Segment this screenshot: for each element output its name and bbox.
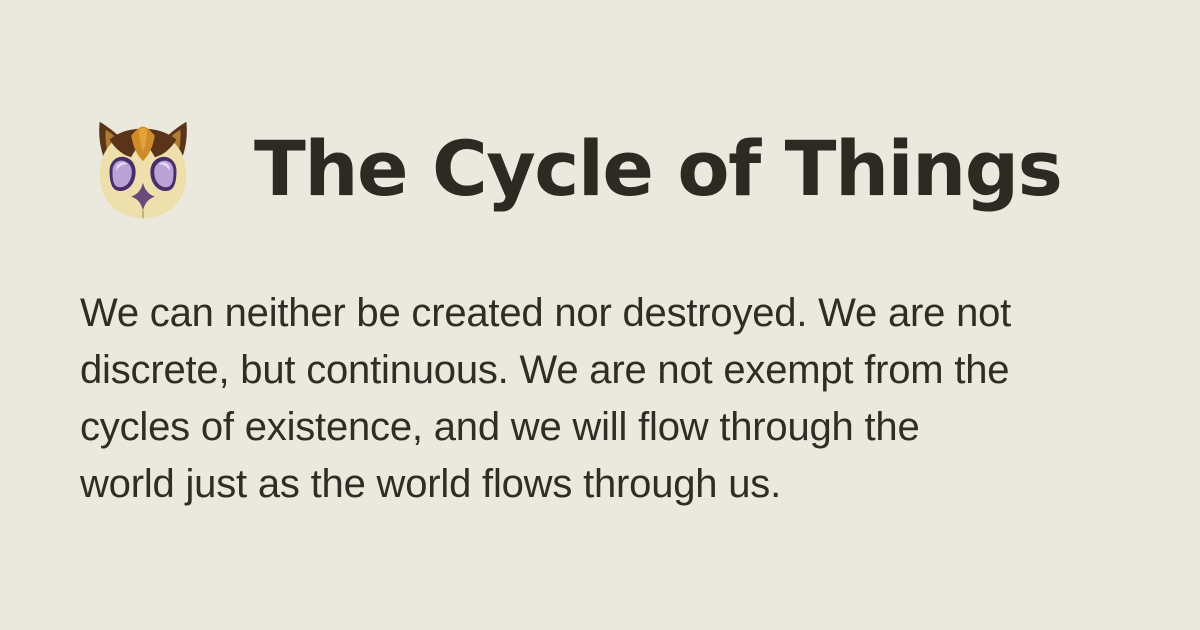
body-line: cycles of existence, and we will flow th…: [80, 399, 1130, 456]
body-line: discrete, but continuous. We are not exe…: [80, 342, 1130, 399]
cat-face-emoji: [80, 106, 206, 232]
card-body-text: We can neither be created nor destroyed.…: [80, 285, 1130, 513]
body-line: world just as the world flows through us…: [80, 456, 1130, 513]
body-line: We can neither be created nor destroyed.…: [80, 285, 1130, 342]
card-header: The Cycle of Things: [80, 104, 1061, 234]
social-card: The Cycle of Things We can neither be cr…: [0, 0, 1200, 630]
page-title: The Cycle of Things: [254, 131, 1061, 207]
